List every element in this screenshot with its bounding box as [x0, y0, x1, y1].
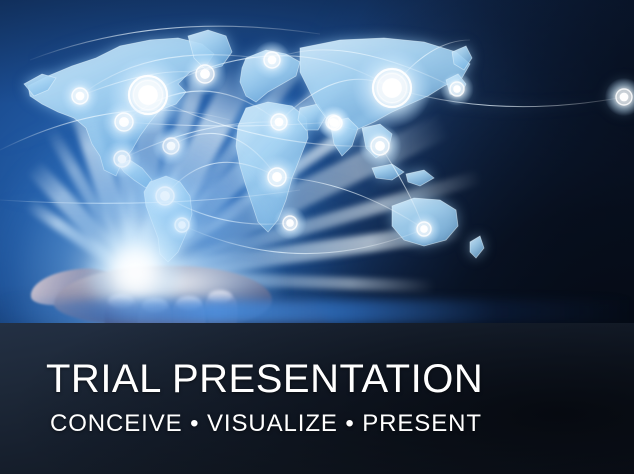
node-scandinavia: [253, 41, 291, 79]
node-east-china: [358, 124, 401, 167]
caption-inner: TRIAL PRESENTATION CONCEIVE • VISUALIZE …: [46, 359, 634, 436]
node-india: [318, 106, 352, 140]
caption-band: TRIAL PRESENTATION CONCEIVE • VISUALIZE …: [0, 323, 634, 474]
presentation-slide: TRIAL PRESENTATION CONCEIVE • VISUALIZE …: [0, 0, 634, 474]
node-west-canada: [61, 77, 99, 115]
node-greenland: [183, 52, 226, 95]
page-subtitle: CONCEIVE • VISUALIZE • PRESENT: [50, 412, 634, 436]
page-title: TRIAL PRESENTATION: [46, 359, 634, 399]
node-japan: [440, 72, 474, 106]
node-australia: [407, 212, 441, 246]
blue-light-streak: [0, 300, 634, 324]
node-russia-west: [605, 78, 634, 116]
node-asia-hub: [352, 48, 432, 128]
